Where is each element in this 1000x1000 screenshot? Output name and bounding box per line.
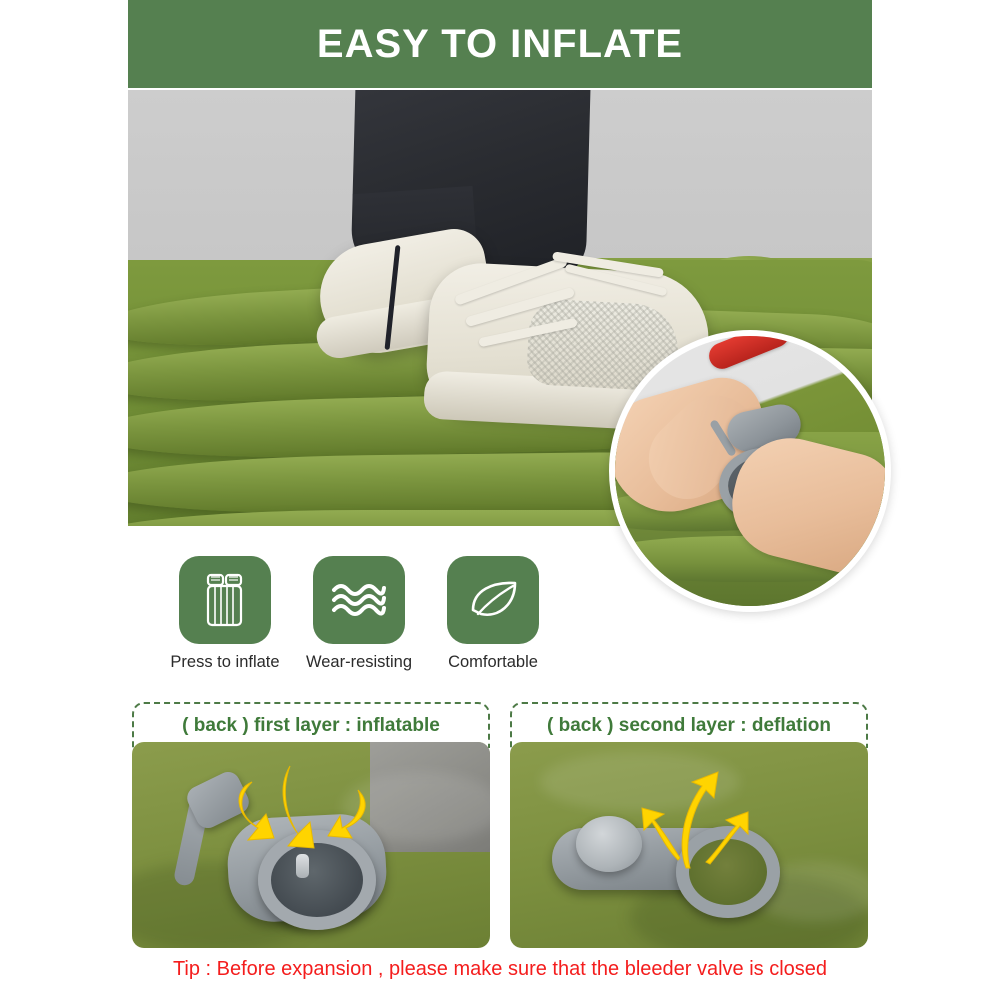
valve-cap bbox=[576, 816, 642, 872]
valve-opening bbox=[676, 826, 780, 918]
header-banner: EASY TO INFLATE bbox=[128, 0, 872, 88]
feature-tile bbox=[447, 556, 539, 644]
feature-wear-resisting: Wear-resisting bbox=[294, 556, 424, 672]
tip-text: Tip : Before expansion , please make sur… bbox=[0, 958, 1000, 981]
rolled-mats-icon bbox=[199, 571, 251, 629]
feature-tile bbox=[313, 556, 405, 644]
valve-pin bbox=[296, 854, 309, 878]
first-layer-photo bbox=[132, 742, 490, 948]
feature-label: Comfortable bbox=[428, 653, 558, 672]
feature-label: Wear-resisting bbox=[294, 653, 424, 672]
waves-icon bbox=[330, 580, 388, 620]
feature-row: Press to inflate Wear-resisting Comforta… bbox=[128, 556, 558, 686]
feature-comfortable: Comfortable bbox=[428, 556, 558, 672]
banner-title: EASY TO INFLATE bbox=[317, 22, 683, 67]
leaf-icon bbox=[465, 576, 521, 624]
feature-label: Press to inflate bbox=[160, 653, 290, 672]
panel-title: ( back ) first layer : inflatable bbox=[182, 715, 440, 737]
second-layer-photo bbox=[510, 742, 868, 948]
cloth-highlight bbox=[540, 752, 740, 812]
feature-tile bbox=[179, 556, 271, 644]
valve-opening bbox=[258, 830, 376, 930]
feature-press-to-inflate: Press to inflate bbox=[160, 556, 290, 672]
hands-pressing-valve-inset bbox=[609, 330, 891, 612]
panel-first-layer: ( back ) first layer : inflatable bbox=[132, 702, 490, 948]
panel-second-layer: ( back ) second layer : deflation bbox=[510, 702, 868, 948]
panel-title: ( back ) second layer : deflation bbox=[547, 715, 831, 737]
infographic-stage: EASY TO INFLATE bbox=[0, 0, 1000, 1000]
